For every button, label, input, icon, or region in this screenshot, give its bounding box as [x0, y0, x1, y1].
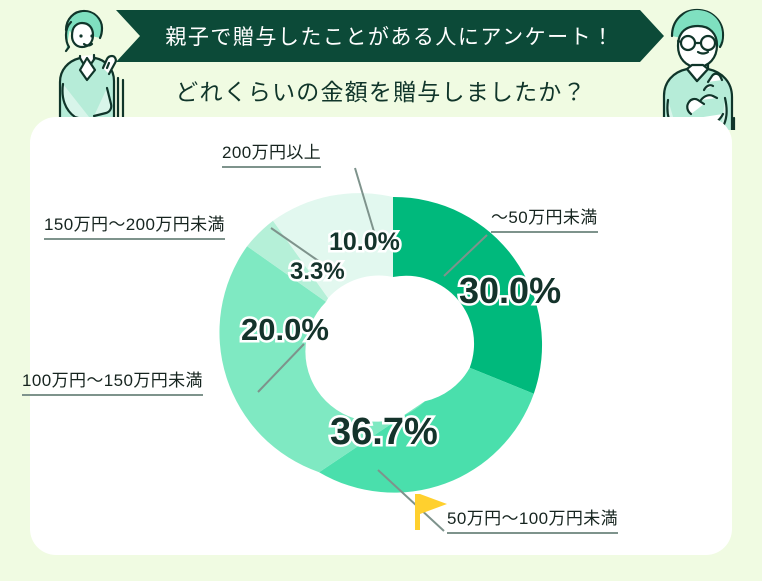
callout-label-200-over: 200万円以上: [222, 138, 321, 168]
percent-label-100-150: 20.0%: [241, 312, 329, 348]
man-thinking-illustration: [646, 0, 758, 130]
percent-label-under-50: 30.0%: [459, 270, 561, 312]
callout-label-100-150: 100万円〜150万円未満: [22, 366, 203, 396]
percent-label-200-over: 10.0%: [329, 228, 400, 257]
callout-label-150-200: 150万円〜200万円未満: [44, 210, 225, 240]
percent-label-50-100: 36.7%: [330, 411, 438, 454]
callout-label-50-100: 50万円〜100万円未満: [447, 504, 618, 534]
ribbon-banner: 親子で贈与したことがある人にアンケート！: [116, 10, 664, 62]
callout-label-under-50: 〜50万円未満: [491, 203, 598, 233]
flag-icon: [414, 492, 448, 530]
ribbon-title: 親子で贈与したことがある人にアンケート！: [165, 21, 614, 51]
screenshot-root: 親子で贈与したことがある人にアンケート！ どれくらいの金額を贈与しましたか？: [0, 0, 762, 576]
chart-card: [30, 117, 732, 555]
percent-label-150-200: 3.3%: [290, 258, 345, 286]
